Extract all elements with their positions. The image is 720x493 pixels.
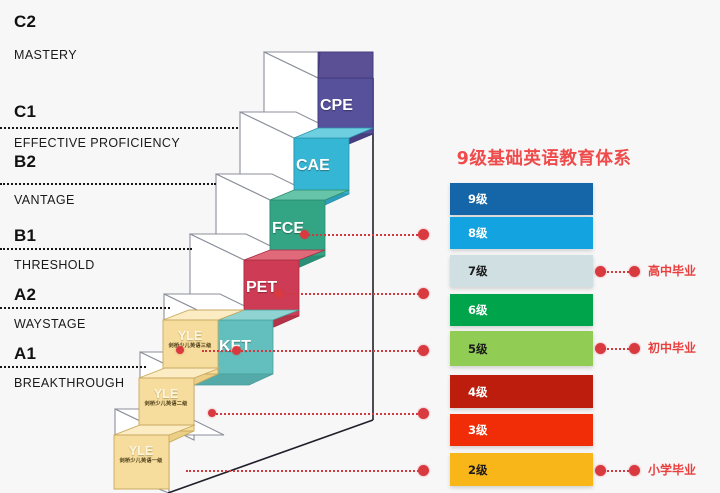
- grad-note-primary: 小学毕业: [648, 461, 696, 478]
- grad-note-middleschool: 初中毕业: [648, 339, 696, 356]
- grad-dot-right-highschool: [629, 266, 640, 277]
- connector-line-fce: [304, 234, 422, 236]
- cefr-level-b1: B1: [14, 226, 36, 246]
- cefr-desc-breakthrough: BREAKTHROUGH: [14, 376, 124, 390]
- connector-dot-yle2-start: [208, 409, 216, 417]
- connector-line-pet: [278, 293, 422, 295]
- yle-1-sub: 剑桥少儿英语一级: [115, 459, 167, 464]
- connector-dot-fce-end: [418, 229, 429, 240]
- grad-line-primary: [604, 470, 632, 472]
- cefr-level-b2: B2: [14, 152, 36, 172]
- level-bar-8: 8级: [450, 217, 593, 249]
- level-bar-5: 5级: [450, 331, 593, 366]
- connector-dot-yle3-start: [176, 346, 184, 354]
- grad-dot-right-primary: [629, 465, 640, 476]
- connector-line-yle2: [212, 413, 422, 415]
- cefr-rule-b1: [0, 248, 192, 250]
- yle-3-sub: 剑桥少儿英语三级: [164, 344, 216, 349]
- level-bar-4: 4级: [450, 375, 593, 408]
- connector-dot-yle1-end: [418, 465, 429, 476]
- cefr-level-c1: C1: [14, 102, 36, 122]
- cefr-desc-waystage: WAYSTAGE: [14, 317, 86, 331]
- exam-label-yle-3: YLE 剑桥少儿英语三级: [164, 330, 216, 350]
- level-bar-3-label: 3级: [450, 422, 488, 438]
- cefr-rule-b2: [0, 183, 216, 185]
- level-bar-2: 2级: [450, 453, 593, 486]
- level-bar-2-label: 2级: [450, 462, 488, 478]
- connector-dot-fce-start: [300, 230, 309, 239]
- level-bar-5-label: 5级: [450, 341, 488, 357]
- level-bar-7: 7级: [450, 255, 593, 287]
- infographic-canvas: C2 MASTERY C1 EFFECTIVE PROFICIENCY B2 V…: [0, 0, 720, 493]
- cefr-desc-threshold: THRESHOLD: [14, 258, 95, 272]
- grad-line-middleschool: [604, 348, 632, 350]
- level-bar-9-label: 9级: [450, 191, 488, 207]
- yle-1-name: YLE: [129, 444, 153, 458]
- grad-dot-right-middleschool: [629, 343, 640, 354]
- panel-title: 9级基础英语教育体系: [449, 145, 639, 170]
- yle-3-name: YLE: [178, 329, 202, 343]
- connector-dot-yle2-end: [418, 408, 429, 419]
- grad-line-highschool: [604, 271, 632, 273]
- level-bar-6-label: 6级: [450, 302, 488, 318]
- cefr-level-a1: A1: [14, 344, 36, 364]
- level-bar-4-label: 4级: [450, 384, 488, 400]
- connector-dot-ket-end: [418, 345, 429, 356]
- exam-label-yle-1: YLE 剑桥少儿英语一级: [115, 445, 167, 465]
- level-bar-6: 6级: [450, 294, 593, 326]
- cefr-level-c2: C2: [14, 12, 36, 32]
- level-bar-9: 9级: [450, 183, 593, 215]
- yle-2-sub: 剑桥少儿英语二级: [140, 402, 192, 407]
- grad-note-highschool: 高中毕业: [648, 262, 696, 279]
- level-bar-3: 3级: [450, 414, 593, 446]
- level-bar-7-label: 7级: [450, 263, 488, 279]
- cefr-desc-effective-proficiency: EFFECTIVE PROFICIENCY: [14, 136, 180, 150]
- cefr-desc-vantage: VANTAGE: [14, 193, 75, 207]
- exam-label-yle-2: YLE 剑桥少儿英语二级: [140, 388, 192, 408]
- cefr-rule-a1: [0, 366, 146, 368]
- connector-dot-pet-start: [274, 289, 283, 298]
- cefr-desc-mastery: MASTERY: [14, 48, 77, 62]
- staircase-illustration: [0, 0, 720, 493]
- cefr-level-a2: A2: [14, 285, 36, 305]
- connector-dot-ket-start: [232, 346, 241, 355]
- level-bar-8-label: 8级: [450, 225, 488, 241]
- cefr-rule-a2: [0, 307, 170, 309]
- connector-dot-pet-end: [418, 288, 429, 299]
- cefr-rule-c1: [0, 127, 238, 129]
- yle-2-name: YLE: [154, 387, 178, 401]
- connector-line-yle1: [186, 470, 422, 472]
